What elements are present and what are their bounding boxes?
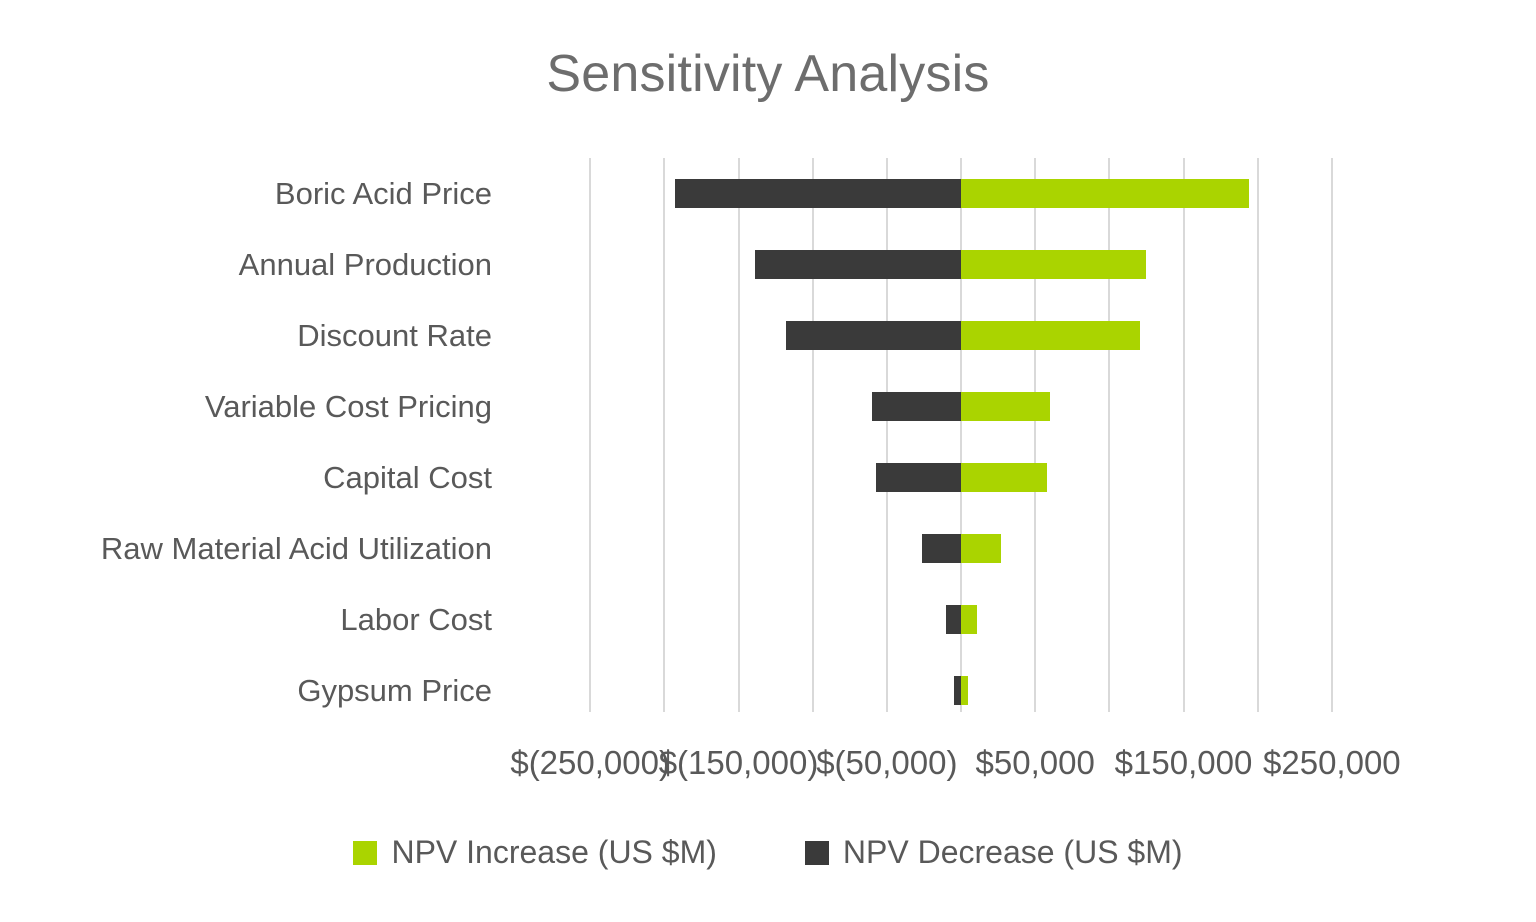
x-tick-label: $50,000: [976, 744, 1095, 782]
x-tick-label: $250,000: [1263, 744, 1401, 782]
category-label: Discount Rate: [0, 321, 492, 350]
bar-segment-increase[interactable]: [961, 463, 1047, 492]
legend-label: NPV Increase (US $M): [391, 834, 716, 871]
sensitivity-analysis-chart: Sensitivity Analysis Boric Acid PriceAnn…: [0, 0, 1536, 922]
category-axis: Boric Acid PriceAnnual ProductionDiscoun…: [0, 158, 492, 712]
legend-swatch-icon: [805, 841, 829, 865]
bar-segment-decrease[interactable]: [946, 605, 961, 634]
bar-segment-decrease[interactable]: [786, 321, 961, 350]
category-label: Raw Material Acid Utilization: [0, 534, 492, 563]
category-label: Labor Cost: [0, 605, 492, 634]
bar-row: [516, 179, 1406, 208]
bar-segment-decrease[interactable]: [872, 392, 961, 421]
bar-segment-increase[interactable]: [961, 321, 1140, 350]
category-label: Annual Production: [0, 250, 492, 279]
legend-swatch-icon: [353, 841, 377, 865]
category-label: Variable Cost Pricing: [0, 392, 492, 421]
bar-row: [516, 392, 1406, 421]
bar-segment-decrease[interactable]: [876, 463, 961, 492]
bar-row: [516, 605, 1406, 634]
bars-layer: [516, 158, 1406, 712]
category-label: Gypsum Price: [0, 676, 492, 705]
legend-item[interactable]: NPV Increase (US $M): [353, 834, 716, 871]
category-label: Boric Acid Price: [0, 179, 492, 208]
legend-item[interactable]: NPV Decrease (US $M): [805, 834, 1183, 871]
bar-segment-decrease[interactable]: [954, 676, 961, 705]
bar-segment-decrease[interactable]: [675, 179, 961, 208]
x-tick-label: $(250,000): [510, 744, 670, 782]
bar-segment-increase[interactable]: [961, 392, 1050, 421]
x-axis-tick-labels: $(250,000)$(150,000)$(50,000)$50,000$150…: [0, 744, 1536, 800]
bar-segment-increase[interactable]: [961, 605, 977, 634]
bar-segment-increase[interactable]: [961, 676, 968, 705]
bar-segment-increase[interactable]: [961, 250, 1146, 279]
bar-segment-decrease[interactable]: [755, 250, 961, 279]
plot-area: [516, 158, 1406, 712]
legend-label: NPV Decrease (US $M): [843, 834, 1183, 871]
bar-row: [516, 534, 1406, 563]
chart-title: Sensitivity Analysis: [0, 44, 1536, 104]
bar-row: [516, 463, 1406, 492]
bar-row: [516, 321, 1406, 350]
x-tick-label: $(50,000): [816, 744, 957, 782]
bar-segment-increase[interactable]: [961, 534, 1001, 563]
bar-segment-decrease[interactable]: [922, 534, 961, 563]
chart-legend: NPV Increase (US $M)NPV Decrease (US $M): [0, 834, 1536, 871]
bar-row: [516, 250, 1406, 279]
x-tick-label: $150,000: [1115, 744, 1253, 782]
bar-segment-increase[interactable]: [961, 179, 1249, 208]
x-tick-label: $(150,000): [659, 744, 819, 782]
category-label: Capital Cost: [0, 463, 492, 492]
bar-row: [516, 676, 1406, 705]
